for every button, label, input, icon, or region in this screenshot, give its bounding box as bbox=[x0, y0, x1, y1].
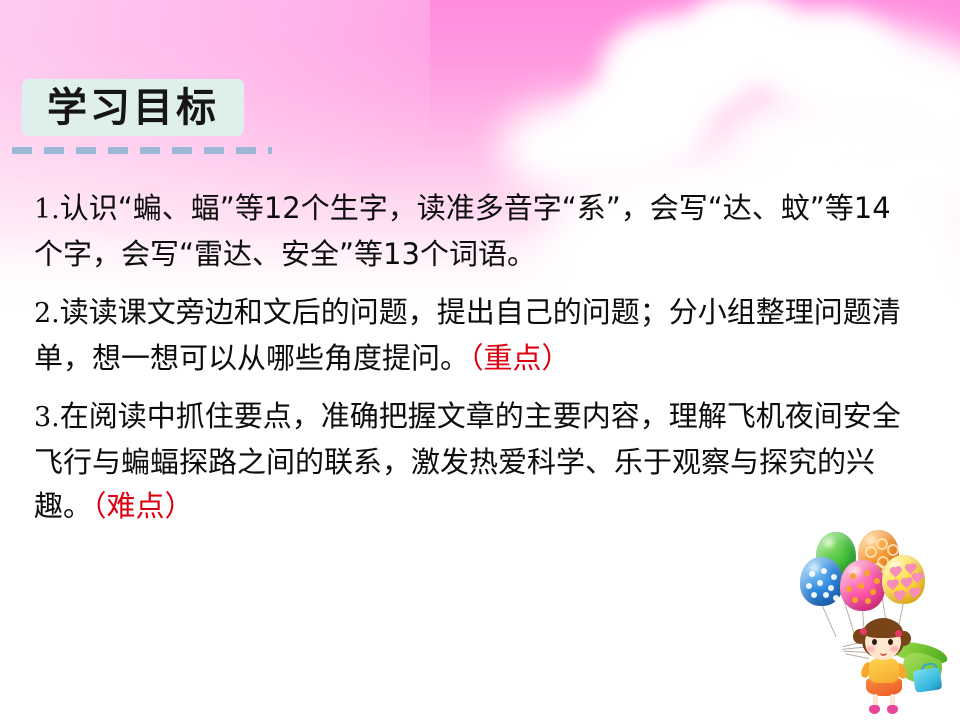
dashed-divider bbox=[12, 147, 264, 154]
cheek-left bbox=[866, 646, 875, 652]
dash-segment bbox=[140, 147, 160, 154]
hair-tie-left bbox=[860, 628, 867, 635]
hair-tie-right bbox=[895, 630, 902, 637]
mouth bbox=[880, 649, 887, 656]
objective-number-2: 2. bbox=[34, 298, 60, 329]
dash-segment bbox=[268, 147, 272, 154]
slide-learning-objectives: 学习目标 1.认识“蝙、蝠”等12个生字，读准多音字“系”，会写“达、蚊”等14… bbox=[0, 0, 960, 720]
balloon-string bbox=[821, 604, 837, 637]
objective-emphasis-3: （难点） bbox=[92, 489, 194, 523]
objective-item-3: 3.在阅读中抓住要点，准确把握文章的主要内容，理解飞机夜间安全飞行与蝙蝠探路之间… bbox=[34, 394, 914, 528]
torso bbox=[869, 658, 899, 683]
balloon-yellow bbox=[882, 555, 925, 604]
dash-segment bbox=[172, 147, 192, 154]
dash-segment bbox=[108, 147, 128, 154]
page-title: 学习目标 bbox=[47, 88, 219, 128]
objective-item-1: 1.认识“蝙、蝠”等12个生字，读准多音字“系”，会写“达、蚊”等14个字，会写… bbox=[34, 186, 914, 276]
eye-right bbox=[888, 639, 893, 645]
girl-figure bbox=[842, 616, 952, 720]
girl-with-balloons-illustration bbox=[790, 528, 960, 720]
cheek-right bbox=[890, 646, 899, 652]
objective-number-3: 3. bbox=[34, 402, 60, 433]
objective-item-2: 2.读读课文旁边和文后的问题，提出自己的问题；分小组整理问题清单，想一想可以从哪… bbox=[34, 290, 914, 380]
page-title-box: 学习目标 bbox=[22, 79, 244, 136]
balloon-pink bbox=[840, 560, 885, 611]
objective-emphasis-2: （重点） bbox=[469, 341, 571, 375]
eye-left bbox=[872, 639, 877, 645]
dash-segment bbox=[204, 147, 224, 154]
dash-segment bbox=[236, 147, 256, 154]
dash-segment bbox=[76, 147, 96, 154]
objectives-list: 1.认识“蝙、蝠”等12个生字，读准多音字“系”，会写“达、蚊”等14个字，会写… bbox=[34, 186, 914, 528]
objective-text-2: 读读课文旁边和文后的问题，提出自己的问题；分小组整理问题清单，想一想可以从哪些角… bbox=[34, 295, 901, 375]
objective-text-1: 认识“蝙、蝠”等12个生字，读准多音字“系”，会写“达、蚊”等14个字，会写“雷… bbox=[34, 191, 891, 271]
shoe-right bbox=[887, 705, 898, 714]
dash-segment bbox=[44, 147, 64, 154]
bag bbox=[913, 667, 943, 693]
objective-number-1: 1. bbox=[34, 194, 60, 225]
shoe-left bbox=[869, 705, 880, 714]
dash-segment bbox=[12, 147, 32, 154]
balloon-blue bbox=[800, 557, 843, 606]
